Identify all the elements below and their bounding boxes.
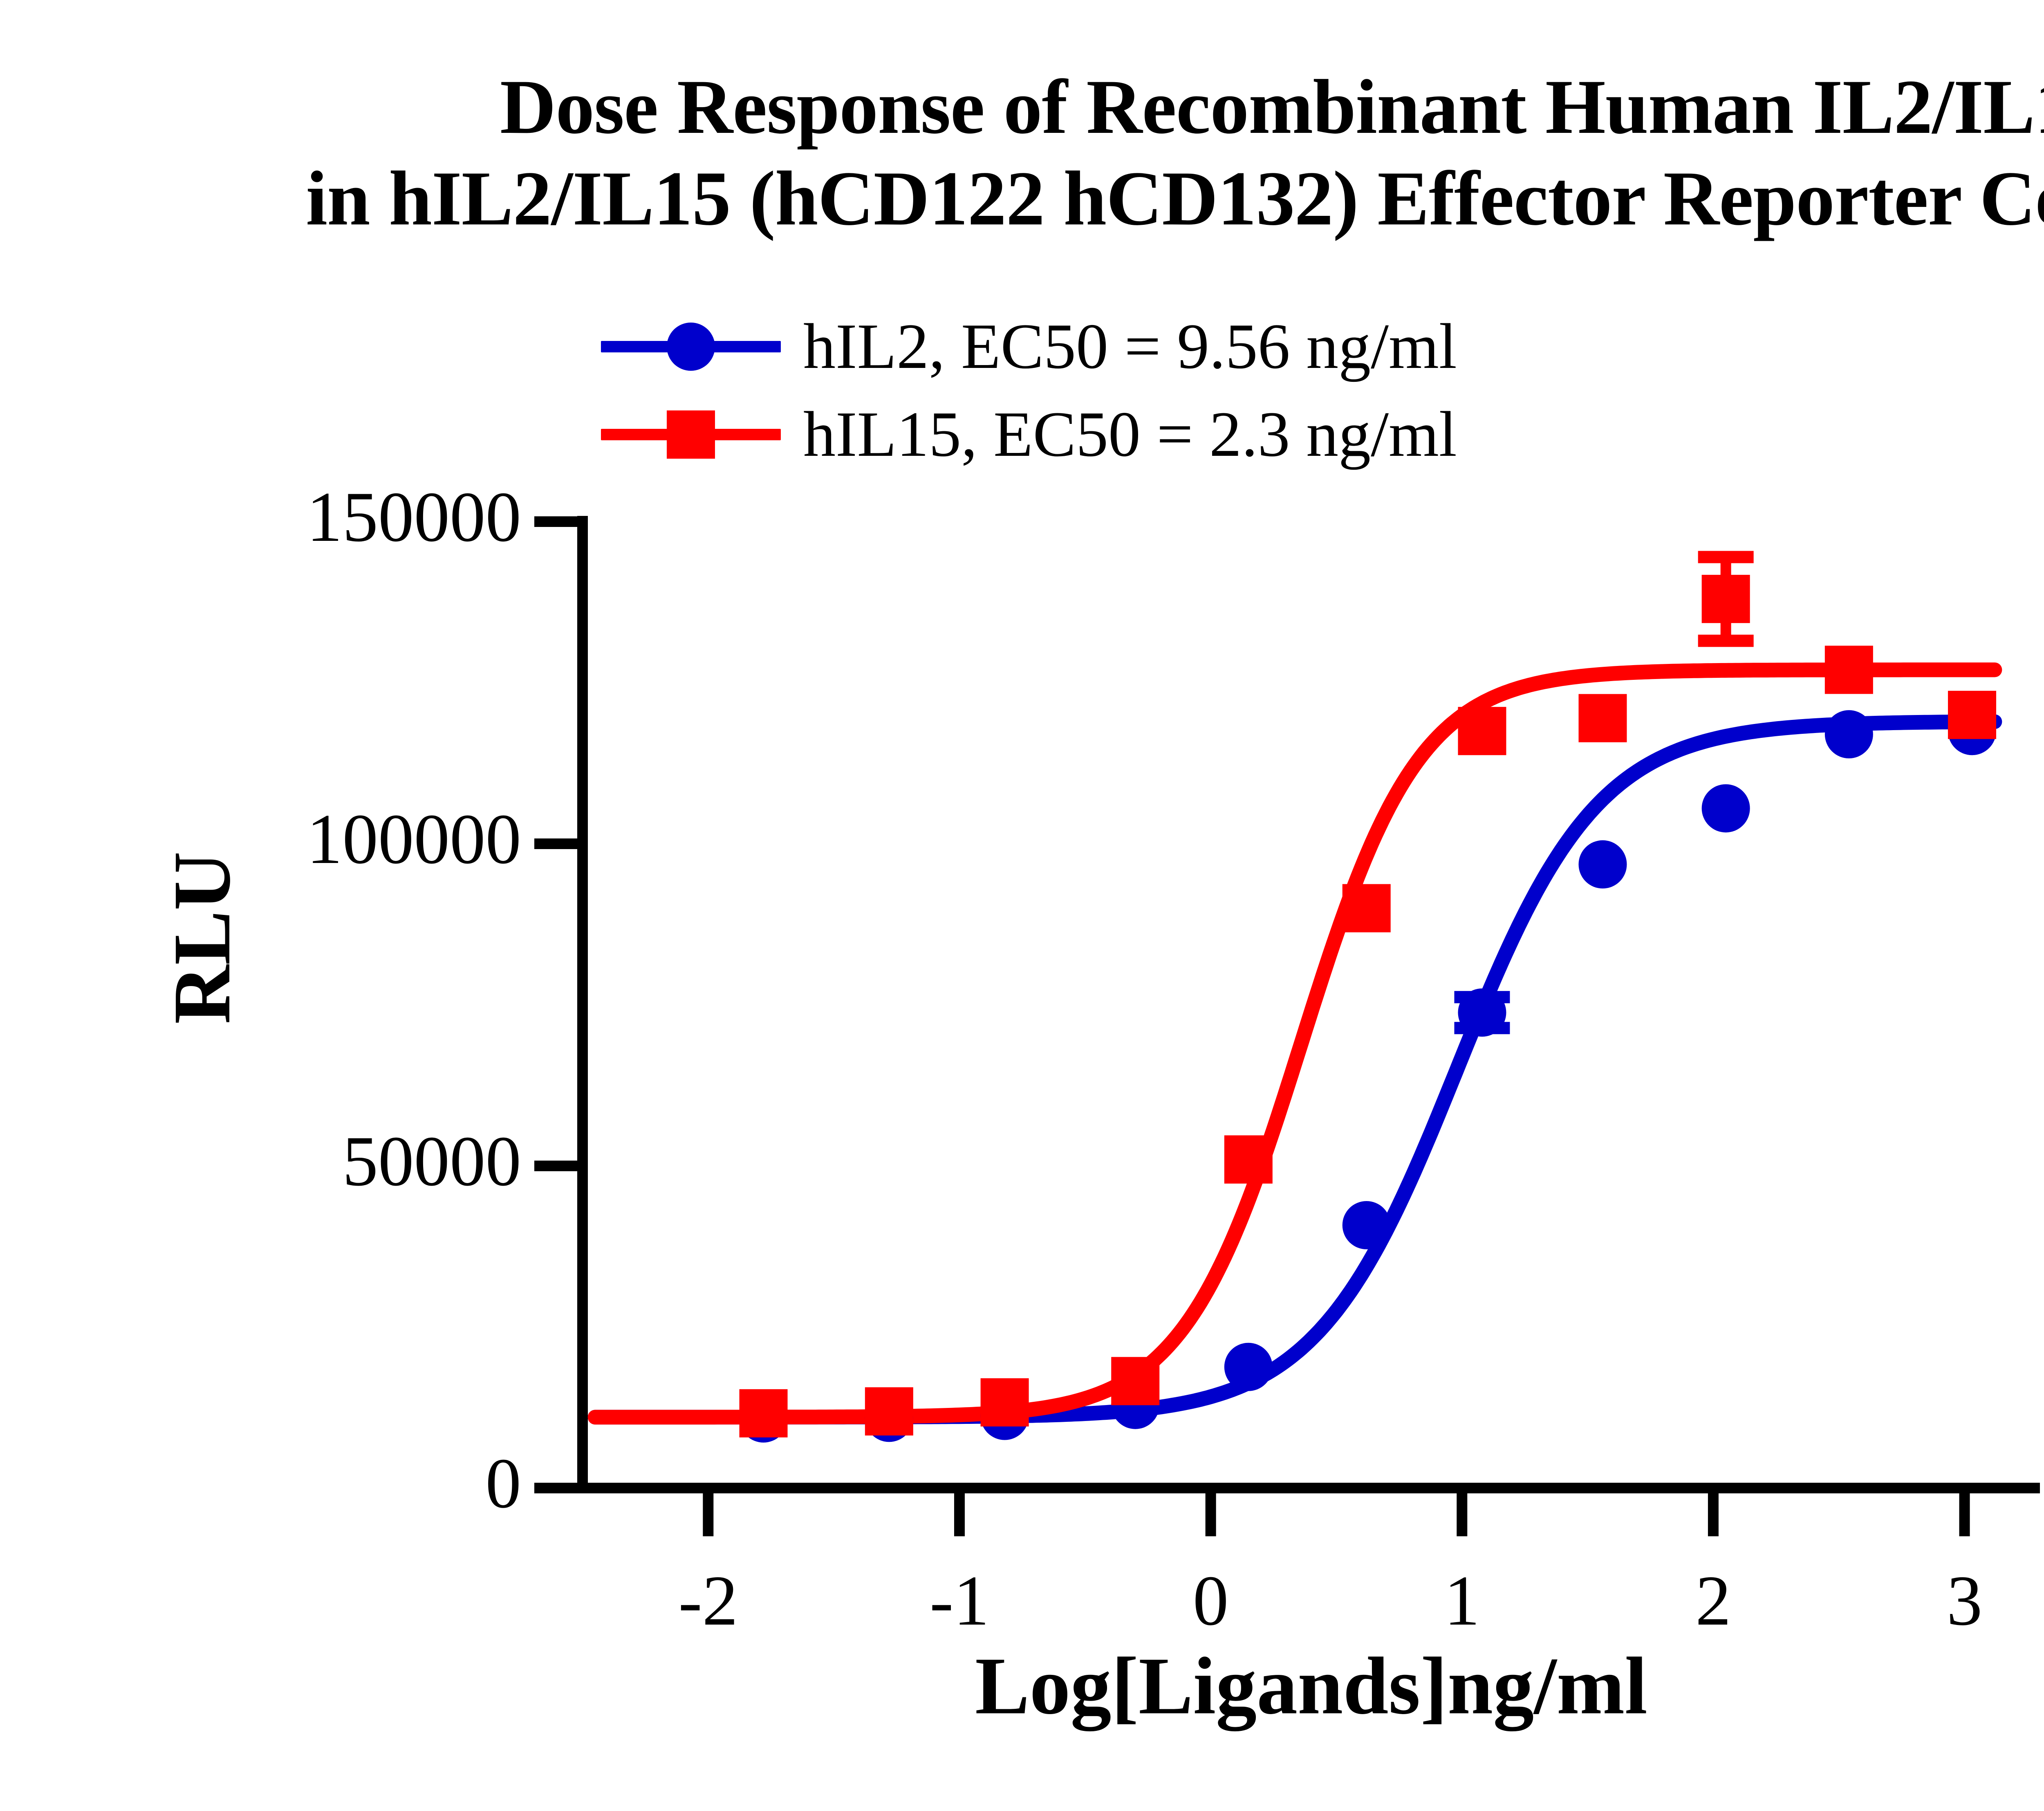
data-point-marker	[1702, 575, 1750, 623]
data-point-marker	[1342, 1201, 1391, 1249]
data-point-marker	[981, 1378, 1029, 1426]
y-tick-label: 100000	[307, 798, 521, 880]
data-point-marker	[740, 1389, 788, 1437]
x-tick-label: 3	[1883, 1560, 2044, 1642]
y-tick-label: 50000	[343, 1120, 522, 1202]
fit-curve-hil15	[595, 670, 1995, 1417]
data-point-marker	[1224, 1343, 1273, 1391]
data-point-marker	[1458, 988, 1506, 1037]
data-point-marker	[1702, 784, 1750, 832]
data-point-marker	[1111, 1357, 1159, 1405]
x-tick-label: -2	[626, 1560, 790, 1642]
x-tick-label: 1	[1380, 1560, 1544, 1642]
data-point-marker	[1224, 1135, 1273, 1183]
data-point-marker	[865, 1387, 913, 1435]
y-tick-label: 0	[486, 1442, 522, 1524]
y-tick-label: 150000	[307, 476, 521, 558]
y-axis-title: RLU	[155, 852, 249, 1024]
data-point-marker	[1458, 707, 1506, 755]
chart-figure: Dose Response of Recombinant Human IL2/I…	[0, 0, 2044, 1811]
data-point-marker	[1342, 884, 1391, 932]
data-point-marker	[1579, 840, 1627, 888]
x-tick-label: 2	[1632, 1560, 1795, 1642]
data-point-marker	[1948, 691, 1996, 739]
plot-area: 050000100000150000-2-10123	[0, 0, 2044, 1811]
plot-canvas	[0, 0, 2044, 1811]
data-point-marker	[1579, 694, 1627, 742]
data-point-marker	[1825, 710, 1873, 758]
data-point-marker	[1825, 646, 1873, 694]
x-tick-label: 0	[1129, 1560, 1293, 1642]
x-tick-label: -1	[878, 1560, 1041, 1642]
x-axis-title: Log[Ligands]ng/ml	[501, 1639, 2044, 1733]
